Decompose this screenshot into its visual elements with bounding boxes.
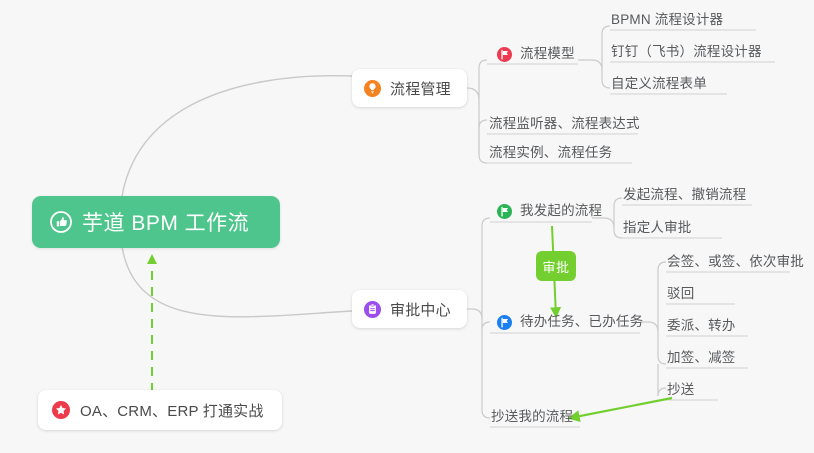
node-cc-to-me-process[interactable]: 抄送我的流程 — [491, 409, 573, 425]
flag-icon — [497, 204, 512, 219]
node-assignee-approval-label: 指定人审批 — [623, 220, 692, 235]
thumbs-up-icon — [50, 211, 72, 233]
node-process-instance-task[interactable]: 流程实例、流程任务 — [489, 145, 612, 161]
connector-process-model-children — [578, 60, 610, 88]
root-node-label: 芋道 BPM 工作流 — [82, 207, 249, 237]
node-bpmn-designer[interactable]: BPMN 流程设计器 — [611, 12, 723, 28]
node-dingtalk-feishu-designer-label: 钉钉（飞书）流程设计器 — [611, 44, 762, 59]
connector-approval-center-spine — [463, 309, 490, 418]
node-my-initiated-process[interactable]: 我发起的流程 — [497, 203, 602, 219]
branch-node-approval-center-label: 审批中心 — [390, 299, 451, 320]
node-assignee-approval[interactable]: 指定人审批 — [623, 220, 692, 236]
connector-to-listener — [479, 120, 487, 128]
approval-flow-badge-label: 审批 — [542, 257, 569, 276]
connector-todo-done-children — [640, 322, 666, 364]
node-multi-sign-label: 会签、或签、依次审批 — [667, 254, 804, 269]
branch-node-process-mgmt[interactable]: 流程管理 — [352, 69, 467, 107]
node-delegate-transfer-label: 委派、转办 — [667, 318, 736, 333]
node-integration-label: OA、CRM、ERP 打通实战 — [80, 400, 264, 421]
node-process-instance-task-label: 流程实例、流程任务 — [489, 145, 612, 160]
lightbulb-icon — [364, 80, 381, 97]
node-todo-done-tasks[interactable]: 待办任务、已办任务 — [497, 314, 643, 330]
node-reject[interactable]: 驳回 — [667, 286, 694, 302]
connector-my-initiated-children — [592, 218, 622, 238]
clipboard-icon — [364, 301, 381, 318]
flag-icon — [497, 315, 512, 330]
node-process-model-label: 流程模型 — [520, 46, 575, 62]
node-custom-process-form-label: 自定义流程表单 — [611, 76, 707, 91]
node-integration[interactable]: OA、CRM、ERP 打通实战 — [38, 390, 282, 430]
node-cc[interactable]: 抄送 — [667, 382, 694, 398]
node-add-remove-sign[interactable]: 加签、减签 — [667, 350, 736, 366]
node-delegate-transfer[interactable]: 委派、转办 — [667, 318, 736, 334]
node-start-cancel-process-label: 发起流程、撤销流程 — [623, 187, 746, 202]
node-reject-label: 驳回 — [667, 286, 694, 301]
node-my-initiated-process-label: 我发起的流程 — [520, 203, 602, 219]
node-todo-done-tasks-label: 待办任务、已办任务 — [520, 314, 643, 330]
connector-to-process-model — [479, 60, 487, 100]
branch-node-process-mgmt-label: 流程管理 — [390, 78, 451, 99]
approval-flow-badge: 审批 — [536, 251, 576, 281]
star-icon — [52, 401, 70, 419]
mindmap-canvas: 芋道 BPM 工作流 流程管理 流程模型 BPMN 流程设计器 钉钉（飞书 — [0, 0, 814, 453]
node-cc-to-me-process-label: 抄送我的流程 — [491, 409, 573, 424]
node-process-listener-expression-label: 流程监听器、流程表达式 — [489, 116, 640, 131]
node-bpmn-designer-label: BPMN 流程设计器 — [611, 12, 723, 27]
root-node[interactable]: 芋道 BPM 工作流 — [32, 196, 280, 248]
arrow-cc-to-my-process — [570, 398, 672, 418]
node-start-cancel-process[interactable]: 发起流程、撤销流程 — [623, 187, 746, 203]
flag-icon — [497, 47, 512, 62]
branch-node-approval-center[interactable]: 审批中心 — [352, 290, 467, 328]
node-cc-label: 抄送 — [667, 382, 694, 397]
node-custom-process-form[interactable]: 自定义流程表单 — [611, 76, 707, 92]
node-dingtalk-feishu-designer[interactable]: 钉钉（飞书）流程设计器 — [611, 44, 762, 60]
node-process-model[interactable]: 流程模型 — [497, 46, 575, 62]
node-process-listener-expression[interactable]: 流程监听器、流程表达式 — [489, 116, 640, 132]
node-multi-sign[interactable]: 会签、或签、依次审批 — [667, 254, 804, 270]
node-add-remove-sign-label: 加签、减签 — [667, 350, 736, 365]
